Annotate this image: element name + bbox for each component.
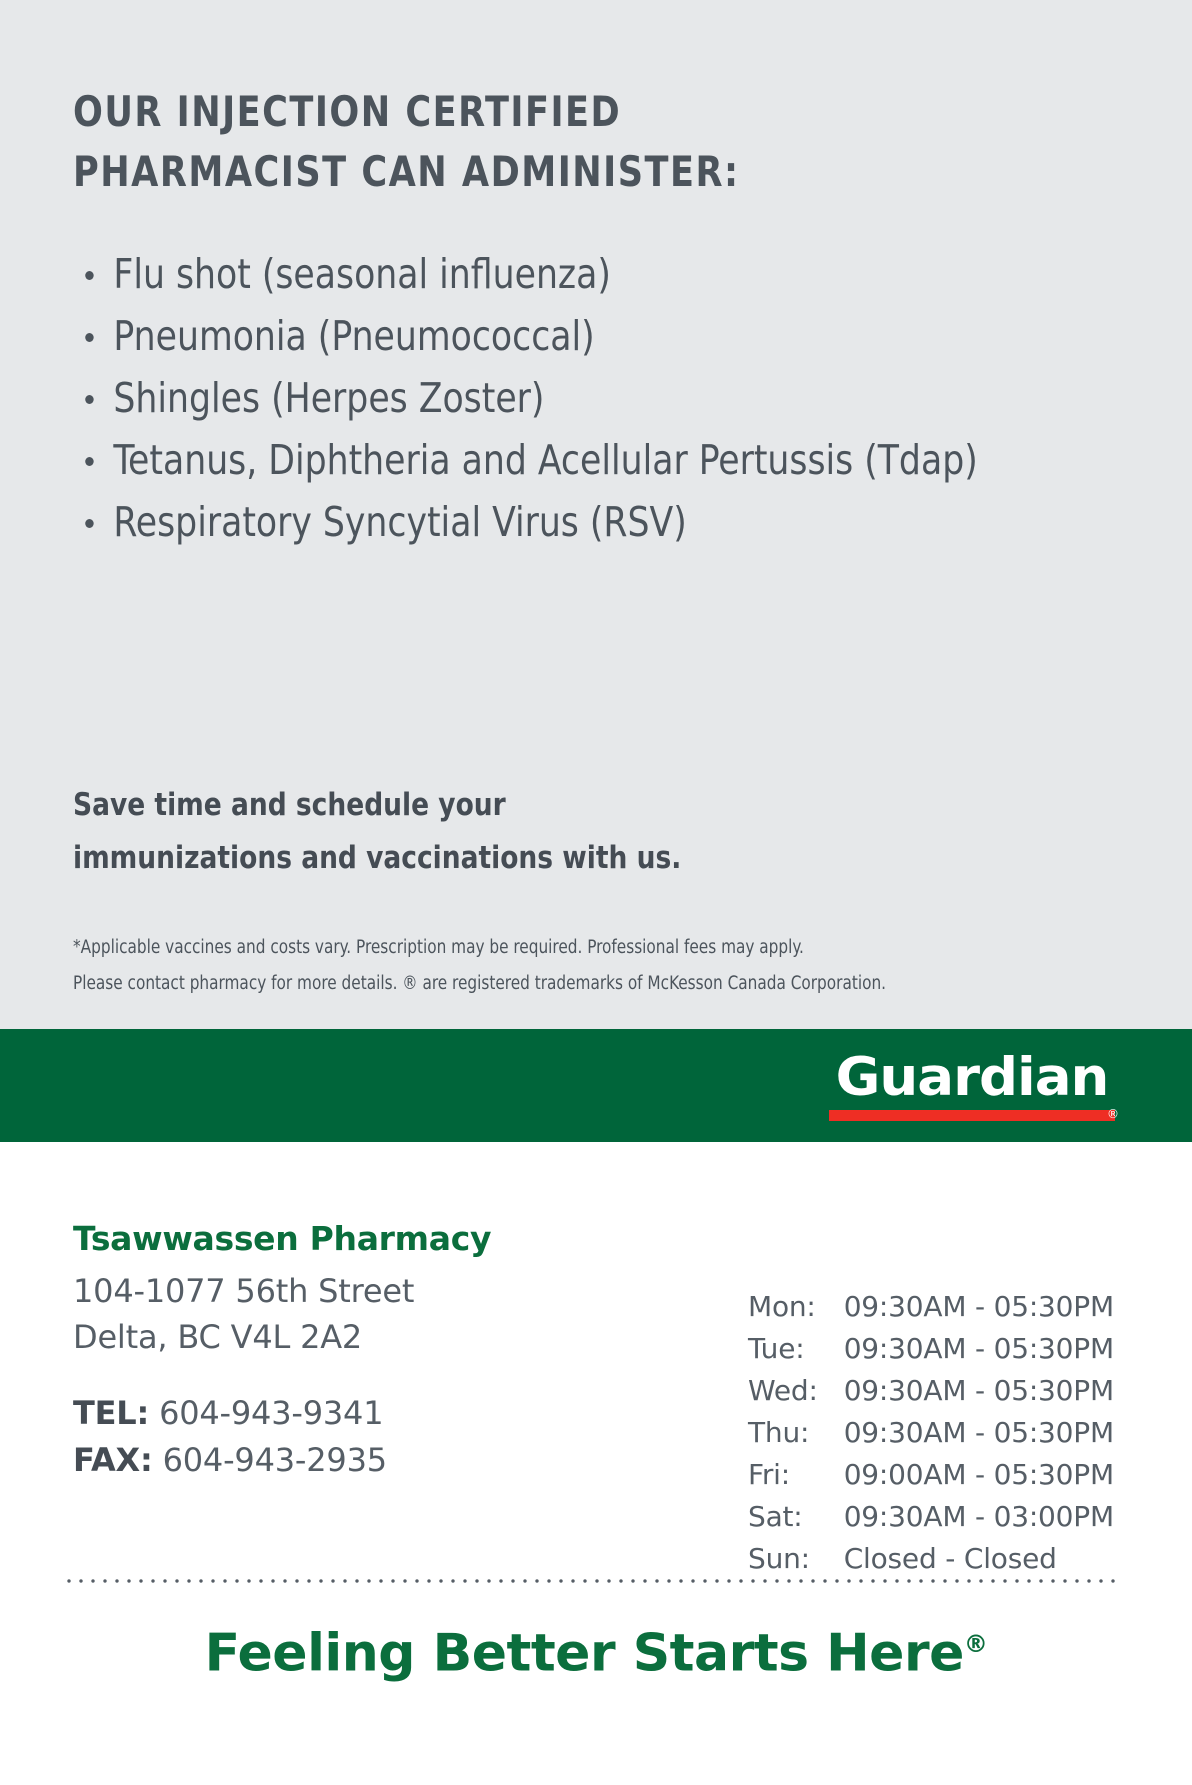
table-row: Wed: 09:30AM - 05:30PM [748, 1370, 1114, 1412]
promo-disclaimer: *Applicable vaccines and costs vary. Pre… [73, 930, 1048, 1002]
promo-callout-line-2: immunizations and vaccinations with us. [73, 832, 852, 885]
promo-heading: OUR INJECTION CERTIFIED PHARMACIST CAN A… [73, 82, 873, 202]
hours-time: 09:30AM - 05:30PM [844, 1370, 1114, 1412]
table-row: Sun: Closed - Closed [748, 1538, 1114, 1580]
table-row: Sat: 09:30AM - 03:00PM [748, 1496, 1114, 1538]
registered-trademark-icon: ® [964, 1630, 988, 1658]
tagline: Feeling Better Starts Here® [0, 1608, 1192, 1689]
promo-heading-line-2: PHARMACIST CAN ADMINISTER: [73, 142, 873, 202]
promo-panel: OUR INJECTION CERTIFIED PHARMACIST CAN A… [0, 0, 1192, 1029]
hours-table: Mon: 09:30AM - 05:30PM Tue: 09:30AM - 05… [748, 1286, 1114, 1580]
dotted-divider [63, 1578, 1118, 1584]
table-row: Thu: 09:30AM - 05:30PM [748, 1412, 1114, 1454]
store-address: 104-1077 56th Street Delta, BC V4L 2A2 [73, 1268, 673, 1360]
store-address-line-2: Delta, BC V4L 2A2 [73, 1314, 673, 1360]
hours-day: Fri: [748, 1454, 844, 1496]
store-info-panel: Tsawwassen Pharmacy 104-1077 56th Street… [0, 1142, 1192, 1785]
hours-time: 09:30AM - 05:30PM [844, 1328, 1114, 1370]
hours-time: 09:30AM - 03:00PM [844, 1496, 1114, 1538]
list-item: Respiratory Syncytial Virus (RSV) [73, 491, 1069, 553]
list-item: Shingles (Herpes Zoster) [73, 367, 1069, 429]
hours-time: 09:00AM - 05:30PM [844, 1454, 1114, 1496]
promo-callout: Save time and schedule your immunization… [73, 779, 852, 885]
services-list: Flu shot (seasonal influenza) Pneumonia … [73, 243, 1133, 553]
guardian-logo: Guardian ® [827, 1050, 1117, 1124]
guardian-wordmark: Guardian [823, 1048, 1122, 1108]
fax-label: FAX: [73, 1441, 153, 1479]
promo-callout-line-1: Save time and schedule your [73, 779, 852, 832]
registered-trademark-icon: ® [1107, 1108, 1119, 1120]
table-row: Tue: 09:30AM - 05:30PM [748, 1328, 1114, 1370]
store-address-line-1: 104-1077 56th Street [73, 1268, 673, 1314]
promo-disclaimer-line-1: *Applicable vaccines and costs vary. Pre… [73, 930, 1048, 966]
hours-time: 09:30AM - 05:30PM [844, 1412, 1114, 1454]
tagline-text: Feeling Better Starts Here [205, 1623, 964, 1683]
table-row: Fri: 09:00AM - 05:30PM [748, 1454, 1114, 1496]
tel-label: TEL: [73, 1394, 149, 1432]
brand-band: Guardian ® [0, 1029, 1192, 1142]
hours-day: Sat: [748, 1496, 844, 1538]
store-contact: TEL: 604-943-9341 FAX: 604-943-2935 [73, 1390, 673, 1484]
promo-disclaimer-line-2: Please contact pharmacy for more details… [73, 966, 1048, 1002]
fax-value: 604-943-2935 [163, 1441, 387, 1479]
hours-time: Closed - Closed [844, 1538, 1114, 1580]
store-hours: Mon: 09:30AM - 05:30PM Tue: 09:30AM - 05… [748, 1286, 1114, 1580]
hours-day: Thu: [748, 1412, 844, 1454]
list-item: Tetanus, Diphtheria and Acellular Pertus… [73, 429, 1069, 491]
list-item: Pneumonia (Pneumococcal) [73, 305, 1069, 367]
hours-day: Tue: [748, 1328, 844, 1370]
store-phone-row: TEL: 604-943-9341 [73, 1390, 673, 1437]
store-name: Tsawwassen Pharmacy [73, 1216, 673, 1262]
hours-day: Wed: [748, 1370, 844, 1412]
hours-time: 09:30AM - 05:30PM [844, 1286, 1114, 1328]
list-item: Flu shot (seasonal influenza) [73, 243, 1069, 305]
table-row: Mon: 09:30AM - 05:30PM [748, 1286, 1114, 1328]
tel-value[interactable]: 604-943-9341 [159, 1394, 383, 1432]
pharmacy-flyer: OUR INJECTION CERTIFIED PHARMACIST CAN A… [0, 0, 1192, 1785]
hours-day: Mon: [748, 1286, 844, 1328]
guardian-underline-bar [829, 1110, 1115, 1121]
store-block: Tsawwassen Pharmacy 104-1077 56th Street… [73, 1216, 673, 1484]
promo-heading-line-1: OUR INJECTION CERTIFIED [73, 82, 873, 142]
store-fax-row: FAX: 604-943-2935 [73, 1437, 673, 1484]
hours-day: Sun: [748, 1538, 844, 1580]
